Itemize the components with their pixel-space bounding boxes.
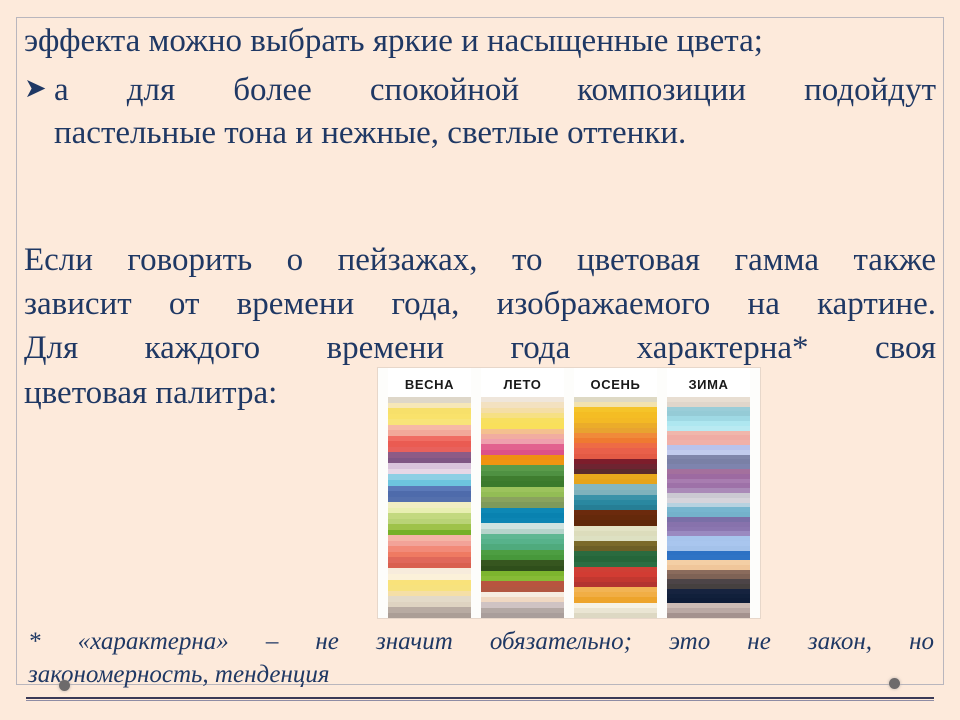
footnote-line-1: * «характерна» – не значит обязательно; … <box>28 625 934 658</box>
season-column: ВЕСНА <box>388 368 471 618</box>
decorative-dot-left <box>59 680 70 691</box>
season-title: ВЕСНА <box>388 368 471 397</box>
bottom-divider <box>26 697 934 701</box>
color-swatch <box>667 613 750 618</box>
swatch-strip <box>388 397 471 618</box>
paragraph-line-3: Для каждого времени года характерна* сво… <box>24 326 936 370</box>
lead-line: эффекта можно выбрать яркие и насыщенные… <box>24 20 936 63</box>
color-swatch <box>574 613 657 618</box>
paragraph-line-1: Если говорить о пейзажах, то цветовая га… <box>24 238 936 282</box>
bullet-line-2: пастельные тона и нежные, светлые оттенк… <box>54 115 686 151</box>
palette-columns: ВЕСНАЛЕТООСЕНЬЗИМА <box>378 368 760 618</box>
swatch-strip <box>481 397 564 618</box>
arrow-bullet-icon: ➤ <box>24 69 54 108</box>
season-palette-figure: ВЕСНАЛЕТООСЕНЬЗИМА <box>378 368 760 618</box>
bullet-text: а для более спокойной композиции подойду… <box>54 69 936 156</box>
season-title: ЛЕТО <box>481 368 564 397</box>
season-column: ЛЕТО <box>481 368 564 618</box>
bullet-item: ➤ а для более спокойной композиции подой… <box>24 69 936 156</box>
color-swatch <box>481 613 564 618</box>
footnote-line-2: закономерность, тенденция <box>28 658 934 691</box>
season-title: ОСЕНЬ <box>574 368 657 397</box>
swatch-strip <box>574 397 657 618</box>
season-column: ОСЕНЬ <box>574 368 657 618</box>
swatch-strip <box>667 397 750 618</box>
season-column: ЗИМА <box>667 368 750 618</box>
color-swatch <box>388 613 471 618</box>
season-title: ЗИМА <box>667 368 750 397</box>
footnote: * «характерна» – не значит обязательно; … <box>28 625 934 691</box>
paragraph-line-2: зависит от времени года, изображаемого н… <box>24 282 936 326</box>
slide: эффекта можно выбрать яркие и насыщенные… <box>0 0 960 720</box>
bullet-line-1: а для более спокойной композиции подойду… <box>54 69 936 113</box>
decorative-dot-right <box>889 678 900 689</box>
